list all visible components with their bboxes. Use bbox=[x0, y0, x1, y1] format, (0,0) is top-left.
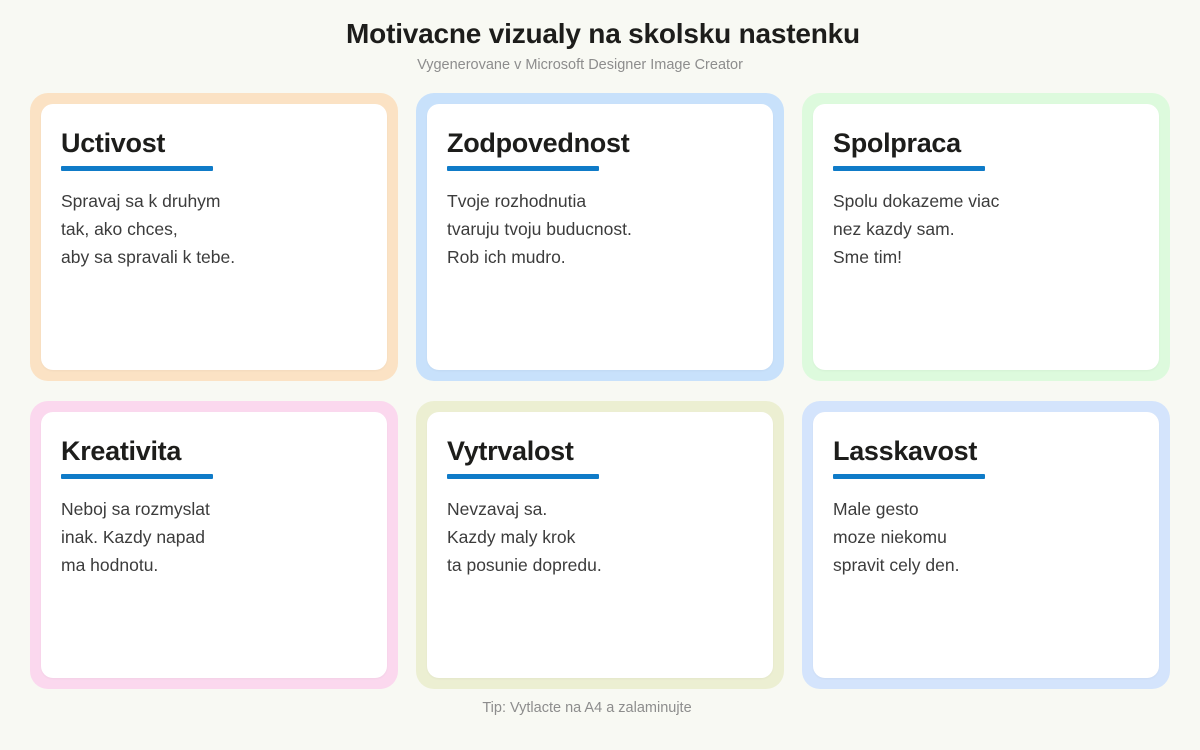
card-title: Spolpraca bbox=[833, 127, 1139, 159]
card-accent-rule bbox=[833, 166, 985, 171]
card-frame-kreativita: Kreativita Neboj sa rozmyslat inak. Kazd… bbox=[30, 401, 398, 689]
card-uctivost: Uctivost Spravaj sa k druhym tak, ako ch… bbox=[41, 104, 387, 370]
card-title: Uctivost bbox=[61, 127, 367, 159]
page-subtitle: Vygenerovane v Microsoft Designer Image … bbox=[0, 51, 1200, 75]
card-accent-rule bbox=[833, 474, 985, 479]
card-title: Lasskavost bbox=[833, 435, 1139, 467]
card-lasskavost: Lasskavost Male gesto moze niekomu sprav… bbox=[813, 412, 1159, 678]
card-body-text: Male gesto moze niekomu spravit cely den… bbox=[833, 495, 1139, 579]
card-accent-rule bbox=[61, 166, 213, 171]
card-body-text: Nevzavaj sa. Kazdy maly krok ta posunie … bbox=[447, 495, 753, 579]
card-kreativita: Kreativita Neboj sa rozmyslat inak. Kazd… bbox=[41, 412, 387, 678]
card-body-text: Neboj sa rozmyslat inak. Kazdy napad ma … bbox=[61, 495, 367, 579]
card-body-text: Spravaj sa k druhym tak, ako chces, aby … bbox=[61, 187, 367, 271]
card-accent-rule bbox=[61, 474, 213, 479]
card-accent-rule bbox=[447, 166, 599, 171]
page-footer: Tip: Vytlacte na A4 a zalaminujte bbox=[0, 689, 1200, 750]
card-title: Zodpovednost bbox=[447, 127, 753, 159]
page-header: Motivacne vizualy na skolsku nastenku Vy… bbox=[0, 0, 1200, 75]
card-body-text: Spolu dokazeme viac nez kazdy sam. Sme t… bbox=[833, 187, 1139, 271]
page-title: Motivacne vizualy na skolsku nastenku bbox=[0, 17, 1200, 51]
poster-page: Motivacne vizualy na skolsku nastenku Vy… bbox=[0, 0, 1200, 750]
card-frame-vytrvalost: Vytrvalost Nevzavaj sa. Kazdy maly krok … bbox=[416, 401, 784, 689]
card-frame-lasskavost: Lasskavost Male gesto moze niekomu sprav… bbox=[802, 401, 1170, 689]
card-title: Kreativita bbox=[61, 435, 367, 467]
card-frame-uctivost: Uctivost Spravaj sa k druhym tak, ako ch… bbox=[30, 93, 398, 381]
card-accent-rule bbox=[447, 474, 599, 479]
card-frame-zodpovednost: Zodpovednost Tvoje rozhodnutia tvaruju t… bbox=[416, 93, 784, 381]
card-vytrvalost: Vytrvalost Nevzavaj sa. Kazdy maly krok … bbox=[427, 412, 773, 678]
card-frame-spolpraca: Spolpraca Spolu dokazeme viac nez kazdy … bbox=[802, 93, 1170, 381]
footer-tip: Tip: Vytlacte na A4 a zalaminujte bbox=[482, 698, 717, 718]
card-title: Vytrvalost bbox=[447, 435, 753, 467]
card-zodpovednost: Zodpovednost Tvoje rozhodnutia tvaruju t… bbox=[427, 104, 773, 370]
card-grid: Uctivost Spravaj sa k druhym tak, ako ch… bbox=[0, 93, 1200, 689]
card-spolpraca: Spolpraca Spolu dokazeme viac nez kazdy … bbox=[813, 104, 1159, 370]
card-body-text: Tvoje rozhodnutia tvaruju tvoju buducnos… bbox=[447, 187, 753, 271]
